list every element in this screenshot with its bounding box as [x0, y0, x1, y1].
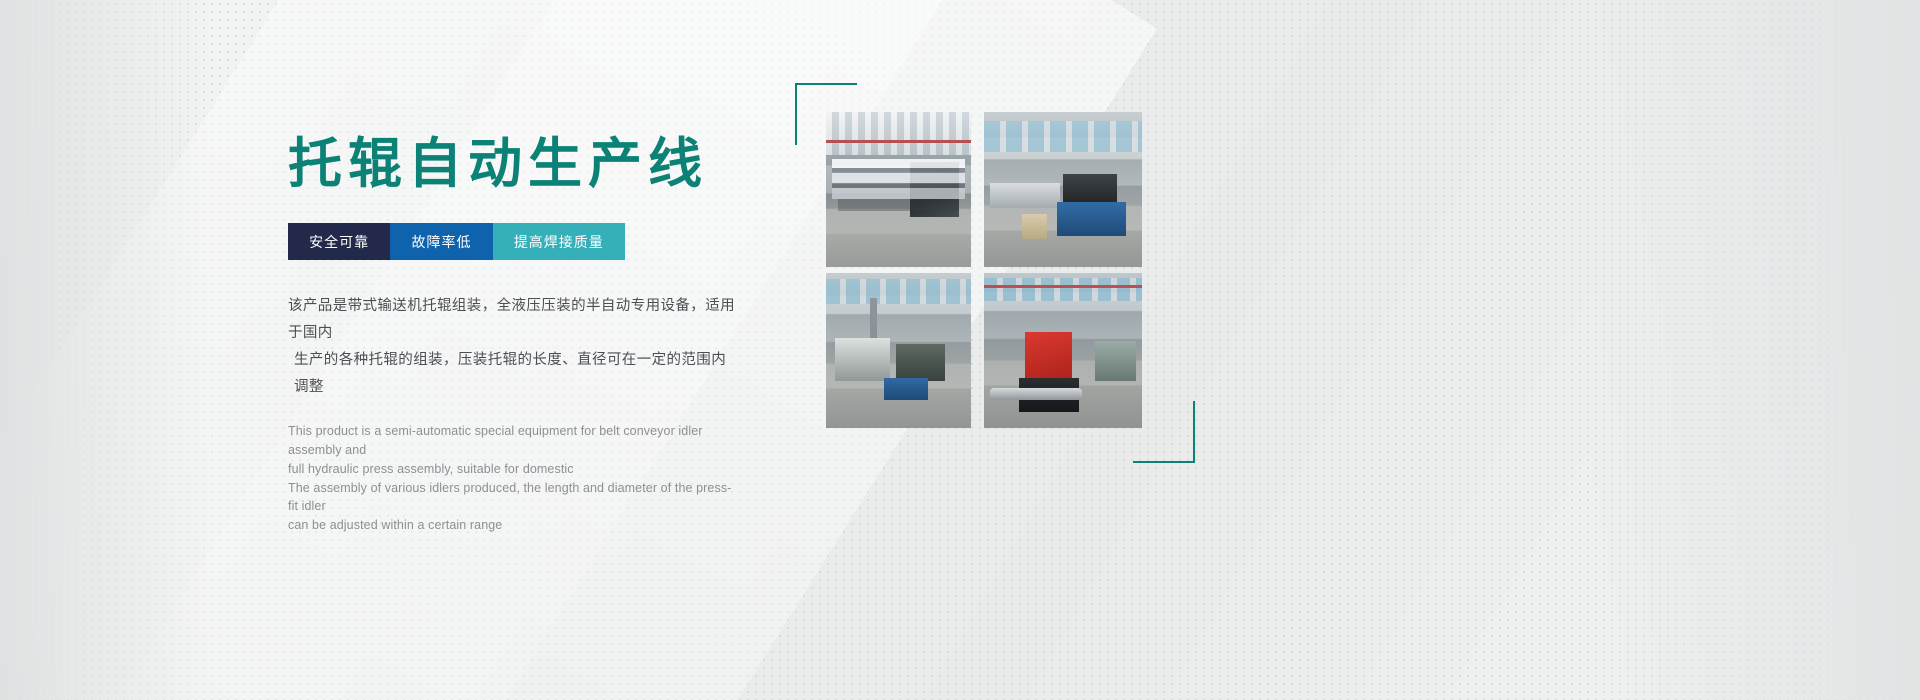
- description-chinese-line-1: 该产品是带式输送机托辊组装，全液压压装的半自动专用设备，适用于国内: [288, 293, 740, 347]
- description-chinese-line-2: 生产的各种托辊的组装，压装托辊的长度、直径可在一定的范围内调整: [288, 347, 740, 401]
- page-title: 托辊自动生产线: [288, 133, 758, 195]
- gallery-photo-conveyor-line[interactable]: [826, 112, 971, 267]
- photo-gallery: [795, 83, 1195, 463]
- gallery-photo-workshop-bins[interactable]: [984, 112, 1142, 267]
- photo-shade: [826, 112, 971, 267]
- description-english: This product is a semi-automatic special…: [288, 422, 733, 535]
- feature-badge-group: 安全可靠 故障率低 提高焊接质量: [288, 223, 625, 260]
- photo-shade: [984, 112, 1142, 267]
- feature-badge-safe-reliable[interactable]: 安全可靠: [288, 223, 390, 260]
- description-english-line-2: full hydraulic press assembly, suitable …: [288, 460, 733, 479]
- gallery-photo-red-press-machine[interactable]: [984, 273, 1142, 428]
- description-english-line-3: The assembly of various idlers produced,…: [288, 479, 733, 517]
- description-english-line-1: This product is a semi-automatic special…: [288, 422, 733, 460]
- background-right-fade: [1590, 0, 1920, 700]
- photo-shade: [984, 273, 1142, 428]
- description-english-line-4: can be adjusted within a certain range: [288, 516, 733, 535]
- photo-shade: [826, 273, 971, 428]
- hero-text-block: 托辊自动生产线 安全可靠 故障率低 提高焊接质量 该产品是带式输送机托辊组装，全…: [288, 133, 758, 535]
- background-left-fade: [0, 0, 210, 700]
- gallery-photo-green-machines[interactable]: [826, 273, 971, 428]
- description-chinese: 该产品是带式输送机托辊组装，全液压压装的半自动专用设备，适用于国内 生产的各种托…: [288, 293, 740, 400]
- feature-badge-low-failure-rate[interactable]: 故障率低: [390, 223, 492, 260]
- feature-badge-improved-weld-quality[interactable]: 提高焊接质量: [493, 223, 625, 260]
- photo-grid: [826, 112, 1153, 434]
